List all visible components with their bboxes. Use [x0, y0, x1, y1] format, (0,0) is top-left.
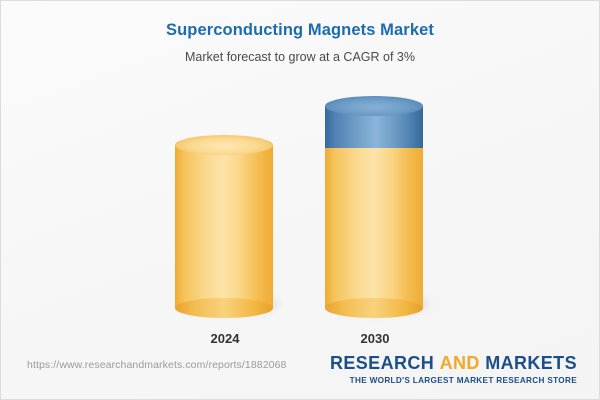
- bar-segment-base-2030: [325, 148, 423, 308]
- logo-tagline: THE WORLD'S LARGEST MARKET RESEARCH STOR…: [330, 376, 577, 385]
- bar-segment-growth-2030: [325, 106, 423, 148]
- market-infographic: Superconducting Magnets Market Market fo…: [0, 0, 600, 400]
- brand-logo[interactable]: RESEARCH AND MARKETS THE WORLD'S LARGEST…: [330, 353, 577, 385]
- footer: https://www.researchandmarkets.com/repor…: [1, 347, 599, 399]
- bar-cylinder-2030: [325, 106, 423, 308]
- logo-text-research: RESEARCH: [330, 353, 434, 373]
- logo-text-markets: MARKETS: [485, 353, 577, 373]
- bar-segment-base-2024: [175, 145, 273, 308]
- bar-cylinder-2024: [175, 145, 273, 308]
- x-axis-label-2030: 2030: [361, 331, 390, 346]
- bar-top-ellipse: [325, 96, 423, 116]
- logo-text-and: AND: [440, 353, 480, 373]
- bar-top-ellipse: [175, 135, 273, 155]
- x-axis-label-2024: 2024: [211, 331, 240, 346]
- source-url[interactable]: https://www.researchandmarkets.com/repor…: [27, 359, 286, 371]
- bar-chart-plot: USD 3.9 Billion 2024 USD 4.7 Billion: [1, 1, 600, 346]
- logo-wordmark: RESEARCH AND MARKETS: [330, 353, 577, 374]
